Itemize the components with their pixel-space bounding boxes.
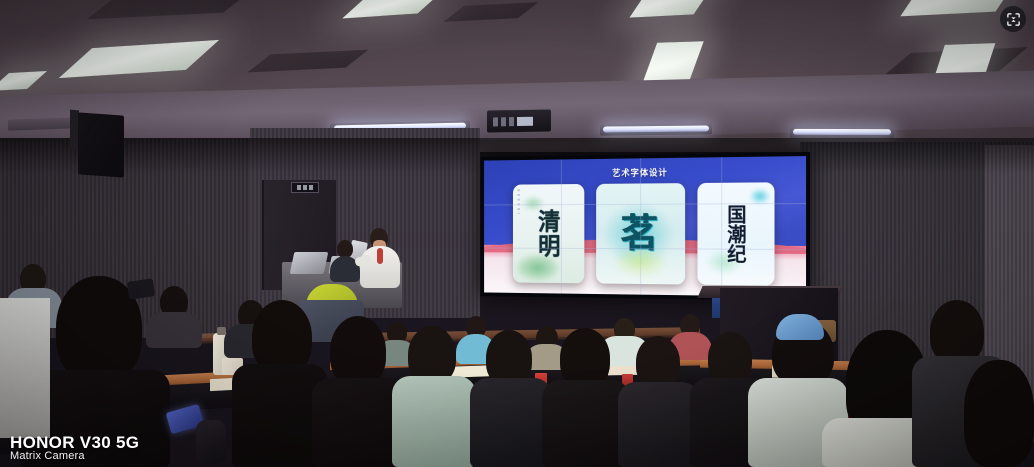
card-glyph-text: 国潮纪 xyxy=(726,204,744,263)
audience-head xyxy=(636,336,680,388)
ceiling-projector xyxy=(487,109,551,132)
wall-speaker xyxy=(78,112,124,177)
fluorescent-tube xyxy=(793,129,891,135)
audience-head xyxy=(708,332,752,384)
slide-card: 国潮纪 xyxy=(697,182,774,285)
audience-head xyxy=(330,316,386,386)
card-glyph-text: 茗 xyxy=(621,216,658,252)
slide-card: 茗 xyxy=(596,183,685,284)
laptop-screen xyxy=(290,252,329,274)
smartphone-raised xyxy=(127,278,155,299)
slide-card-row: 清明 茗 国潮纪 xyxy=(484,182,806,288)
blue-cap xyxy=(776,314,824,340)
audience-head xyxy=(560,328,610,388)
audience-body xyxy=(470,378,552,467)
slide-card: 清明 xyxy=(512,184,583,283)
ink-wash-decoration xyxy=(516,254,559,281)
presenter-lanyard xyxy=(377,248,383,264)
audience-body xyxy=(392,376,476,467)
audience-body xyxy=(312,378,404,467)
exit-sign xyxy=(291,182,319,193)
slide-title: 艺术字体设计 xyxy=(484,164,806,180)
audience-body xyxy=(146,312,202,348)
audience-head xyxy=(252,300,312,374)
camera-body xyxy=(196,420,226,464)
audience-body xyxy=(618,382,700,467)
fluorescent-tube xyxy=(603,125,709,132)
audience-head xyxy=(964,360,1034,467)
fullscreen-button[interactable] xyxy=(1000,6,1026,32)
watermark-brand: HONOR V30 5G xyxy=(10,434,139,452)
fullscreen-expand-icon xyxy=(1006,12,1021,27)
watermark-tagline: Matrix Camera xyxy=(10,451,139,463)
ink-wash-decoration xyxy=(749,188,770,204)
card-binding-icon xyxy=(517,189,520,214)
slide-surface: 艺术字体设计 清明 茗 国潮纪 xyxy=(484,156,806,297)
led-video-wall: 艺术字体设计 清明 茗 国潮纪 xyxy=(481,152,810,301)
audience-shoulder xyxy=(0,298,50,438)
card-glyph-text: 清明 xyxy=(538,209,559,258)
video-frame: 艺术字体设计 清明 茗 国潮纪 xyxy=(0,0,1034,467)
camera-watermark: HONOR V30 5G Matrix Camera xyxy=(10,434,139,463)
audience-body xyxy=(542,380,630,467)
audience-head xyxy=(930,300,984,364)
